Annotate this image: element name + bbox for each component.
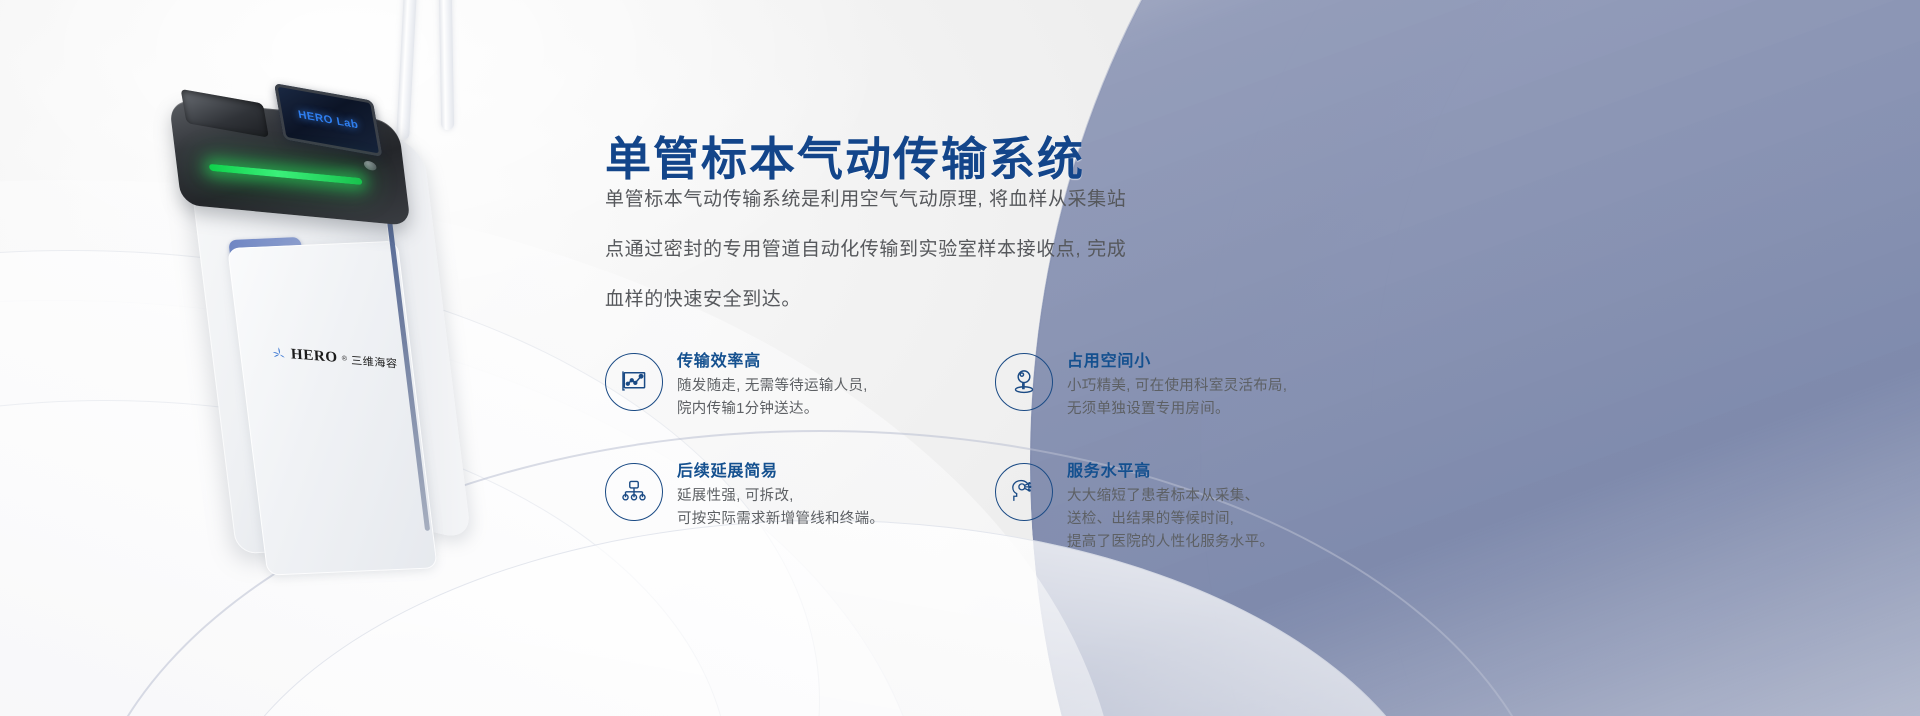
feature-description: 小巧精美, 可在使用科室灵活布局, 无须单独设置专用房间。 (1067, 375, 1287, 421)
device-capsule-slot (181, 89, 269, 138)
hero-leaf-icon (270, 345, 287, 362)
device-status-light (209, 164, 363, 185)
feature-desc-line: 可按实际需求新增管线和终端。 (677, 508, 884, 531)
feature-text: 占用空间小 小巧精美, 可在使用科室灵活布局, 无须单独设置专用房间。 (1067, 345, 1287, 421)
feature-desc-line: 大大缩短了患者标本从采集、 (1067, 485, 1274, 508)
feature-title: 后续延展简易 (677, 457, 884, 481)
feature-item-easy-expansion[interactable]: 后续延展简易 延展性强, 可拆改, 可按实际需求新增管线和终端。 (605, 455, 995, 565)
screen-logo-text: HERO Lab (297, 109, 359, 132)
feature-title: 服务水平高 (1067, 457, 1274, 481)
feature-description: 大大缩短了患者标本从采集、 送检、出结果的等候时间, 提高了医院的人性化服务水平… (1067, 485, 1274, 554)
product-image: HERO ® 三维海容 HERO Lab (150, 0, 590, 716)
feature-item-transfer-efficiency[interactable]: 传输效率高 随发随走, 无需等待运输人员, 院内传输1分钟送达。 (605, 345, 995, 455)
feature-description: 延展性强, 可拆改, 可按实际需求新增管线和终端。 (677, 485, 884, 531)
feature-text: 传输效率高 随发随走, 无需等待运输人员, 院内传输1分钟送达。 (677, 345, 868, 421)
intro-line-2: 点通过密封的专用管道自动化传输到实验室样本接收点, 完成 (605, 225, 1265, 275)
feature-title: 占用空间小 (1067, 347, 1287, 371)
feature-text: 服务水平高 大大缩短了患者标本从采集、 送检、出结果的等候时间, 提高了医院的人… (1067, 455, 1274, 554)
brand-name-en: HERO (291, 346, 339, 366)
intro-line-3: 血样的快速安全到达。 (605, 275, 1265, 325)
feature-list: 传输效率高 随发随走, 无需等待运输人员, 院内传输1分钟送达。 (605, 345, 1305, 565)
background-ring-5 (1700, 0, 1920, 716)
intro-paragraph: 单管标本气动传输系统是利用空气气动原理, 将血样从采集站 点通过密封的专用管道自… (605, 175, 1265, 325)
feature-desc-line: 小巧精美, 可在使用科室灵活布局, (1067, 375, 1287, 398)
banner-content: 单管标本气动传输系统 单管标本气动传输系统是利用空气气动原理, 将血样从采集站 … (605, 0, 1605, 716)
feature-description: 随发随走, 无需等待运输人员, 院内传输1分钟送达。 (677, 375, 868, 421)
network-tree-icon (605, 463, 663, 521)
brand-name-cn: 三维海容 (351, 352, 398, 371)
line-chart-icon (605, 353, 663, 411)
feature-desc-line: 院内传输1分钟送达。 (677, 398, 868, 421)
intro-line-1: 单管标本气动传输系统是利用空气气动原理, 将血样从采集站 (605, 175, 1265, 225)
device-display-screen[interactable]: HERO Lab (274, 83, 383, 157)
feature-desc-line: 随发随走, 无需等待运输人员, (677, 375, 868, 398)
pneumatic-station-device: HERO ® 三维海容 HERO Lab (161, 90, 519, 570)
device-knob[interactable] (363, 160, 377, 172)
feature-text: 后续延展简易 延展性强, 可拆改, 可按实际需求新增管线和终端。 (677, 455, 884, 531)
feature-desc-line: 无须单独设置专用房间。 (1067, 398, 1287, 421)
feature-title: 传输效率高 (677, 347, 868, 371)
feature-item-small-footprint[interactable]: 占用空间小 小巧精美, 可在使用科室灵活布局, 无须单独设置专用房间。 (995, 345, 1305, 455)
product-banner: HERO ® 三维海容 HERO Lab 单管标本气动传输系统 单管标本气动传输… (0, 0, 1920, 716)
feature-item-service-level[interactable]: 服务水平高 大大缩短了患者标本从采集、 送检、出结果的等候时间, 提高了医院的人… (995, 455, 1305, 565)
location-pin-icon (995, 353, 1053, 411)
brand-registered-mark: ® (342, 355, 348, 362)
feature-desc-line: 送检、出结果的等候时间, (1067, 508, 1274, 531)
smart-head-icon (995, 463, 1053, 521)
feature-desc-line: 提高了医院的人性化服务水平。 (1067, 531, 1274, 554)
feature-desc-line: 延展性强, 可拆改, (677, 485, 884, 508)
